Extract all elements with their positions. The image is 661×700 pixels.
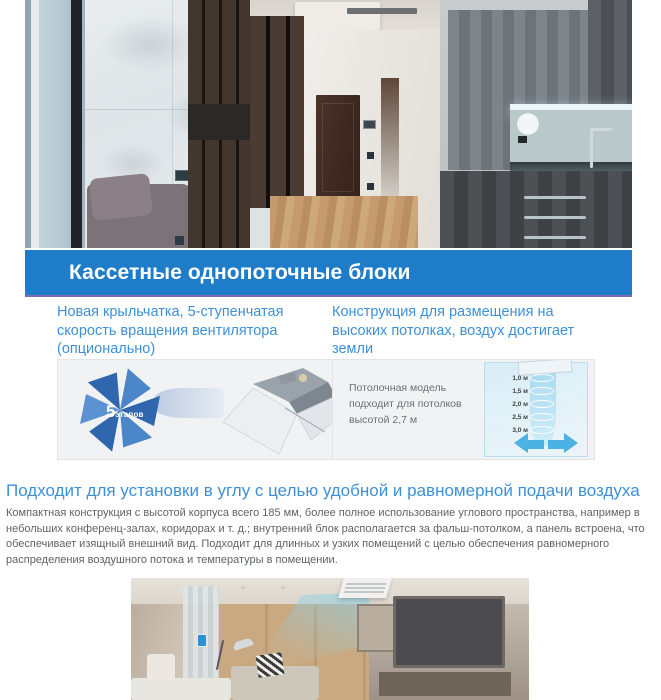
wall-tv xyxy=(393,596,505,668)
photo-interior-marble-wall xyxy=(25,0,250,248)
feature-card-pinwheel: 5этапов xyxy=(57,359,340,460)
airflow-ring xyxy=(530,400,558,413)
height-label: 1,0 м xyxy=(488,372,528,385)
drawer-handle xyxy=(524,216,586,219)
airflow-rings xyxy=(530,374,558,439)
dark-wardrobe xyxy=(188,0,250,248)
feature-columns: Новая крыльчатка, 5-ступенчатая скорость… xyxy=(0,303,661,478)
glass-edge xyxy=(25,0,31,248)
drawer-handle xyxy=(524,196,586,199)
airflow-arrow-right-icon xyxy=(564,433,578,453)
kitchen-countertop xyxy=(510,162,632,171)
section-body: Компактная конструкция с высотой корпуса… xyxy=(6,506,656,568)
banner-underline-rule xyxy=(25,295,632,297)
wood-floor xyxy=(270,196,418,248)
height-scale-labels: 1,0 м 1,5 м 2,0 м 2,5 м 3,0 м xyxy=(488,372,528,437)
photo-kitchen-hexagon-tile xyxy=(440,0,632,248)
pinwheel-badge-word: этапов xyxy=(115,410,144,419)
airflow-ring xyxy=(530,387,558,400)
feature-heading: Новая крыльчатка, 5-ступенчатая скорость… xyxy=(57,303,340,359)
wall-socket-icon xyxy=(367,183,374,190)
ceiling-light-icon xyxy=(241,586,245,589)
bedside-lamp xyxy=(147,654,175,680)
ceiling-cassette-unit xyxy=(338,578,392,598)
bed xyxy=(131,678,231,700)
pinwheel-badge-number: 5 xyxy=(106,402,115,421)
cushion xyxy=(89,173,153,221)
tv-console xyxy=(379,672,511,696)
product-brochure-page: Кассетные однопоточные блоки Новая крыль… xyxy=(0,0,661,700)
feature-card-ceiling-height: Потолочная модель подходит для потолков … xyxy=(332,359,595,460)
wardrobe-glass-panel xyxy=(188,104,250,140)
ceiling-light-icon xyxy=(281,586,285,589)
cassette-ac-unit xyxy=(295,2,380,30)
section-banner: Кассетные однопоточные блоки xyxy=(25,250,632,295)
pinwheel-graphic: 5этапов xyxy=(76,366,164,454)
airflow-arrow-left-icon xyxy=(514,433,528,453)
corridor-cabinets xyxy=(250,16,304,208)
kitchen-socket-icon xyxy=(518,136,527,143)
height-label: 2,0 м xyxy=(488,398,528,411)
wall-control-panel-icon xyxy=(197,634,207,647)
bottom-photo-bedroom-airflow xyxy=(131,578,529,700)
ac-air-outlet xyxy=(347,8,417,14)
corridor-side-door xyxy=(381,78,399,206)
height-label: 2,5 м xyxy=(488,411,528,424)
patterned-pillow xyxy=(256,652,285,677)
feature-column-fan-speed: Новая крыльчатка, 5-ступенчатая скорость… xyxy=(57,303,340,359)
wall-art-frame xyxy=(357,604,397,652)
control-panel-icon xyxy=(363,120,376,129)
corridor-door xyxy=(316,95,360,200)
drawer-handle xyxy=(524,236,586,239)
height-label: 1,5 м xyxy=(488,385,528,398)
section-heading: Подходит для установки в углу с целью уд… xyxy=(6,481,661,501)
feature-heading: Конструкция для размещения на высоких по… xyxy=(332,303,595,359)
ceiling-height-diagram: 1,0 м 1,5 м 2,0 м 2,5 м 3,0 м xyxy=(484,362,588,457)
pinwheel-badge: 5этапов xyxy=(106,404,144,422)
wall-socket-icon xyxy=(367,152,374,159)
kitchen-faucet xyxy=(590,128,593,168)
airflow-ring xyxy=(530,374,558,387)
wall-socket-icon xyxy=(175,236,184,245)
banner-title: Кассетные однопоточные блоки xyxy=(69,261,411,285)
airflow-ring xyxy=(530,426,558,439)
hexagon-tile-backsplash xyxy=(510,110,632,166)
desk-lamp xyxy=(219,640,259,670)
section-paragraph: Компактная конструкция с высотой корпуса… xyxy=(6,506,656,568)
feature-column-ceiling-height: Конструкция для размещения на высоких по… xyxy=(332,303,595,359)
airflow-ring xyxy=(530,413,558,426)
top-photo-strip xyxy=(25,0,632,248)
glass-mullion xyxy=(71,0,82,248)
kitchen-upper-cabinets xyxy=(588,0,632,105)
airflow-stream xyxy=(154,388,224,418)
ceiling-caption: Потолочная модель подходит для потолков … xyxy=(349,380,477,428)
photo-corridor-with-ceiling-unit xyxy=(250,0,440,248)
